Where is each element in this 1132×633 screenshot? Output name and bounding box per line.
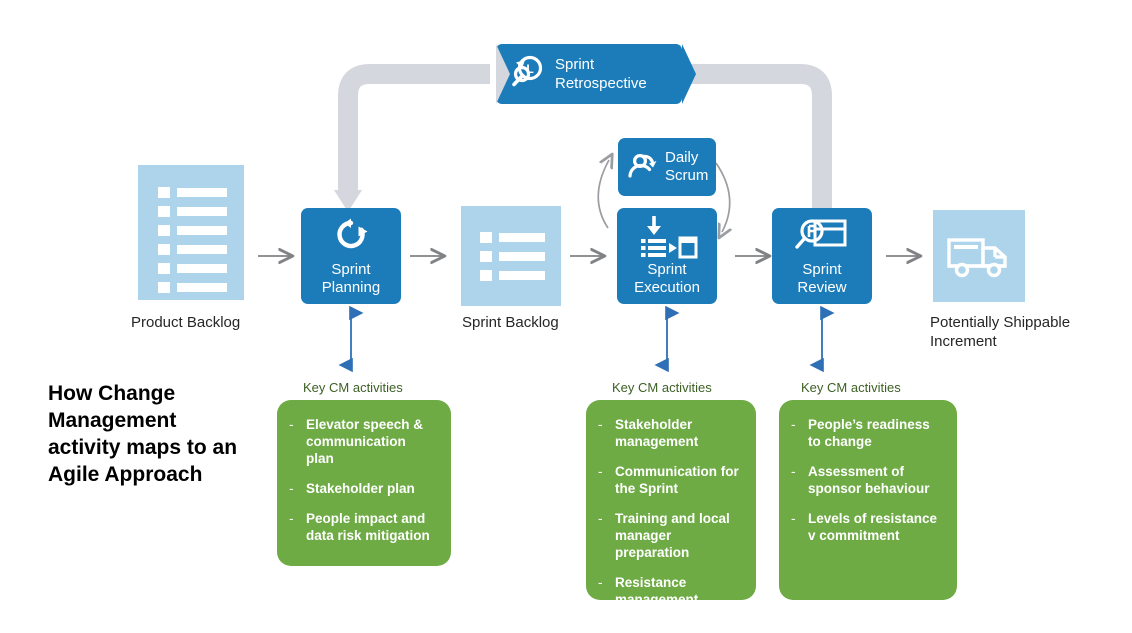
cm-list-review: - People’s readiness to change - Assessm… (791, 416, 943, 544)
cm-heading-planning: Key CM activities (303, 380, 403, 396)
list-item: - Elevator speech & communication plan (289, 416, 437, 467)
bullet-dash: - (791, 463, 799, 497)
bullet-dash: - (289, 510, 297, 544)
bullet-dash: - (598, 574, 606, 608)
bullet-dash: - (598, 463, 606, 497)
cm-heading-execution: Key CM activities (612, 380, 712, 396)
list-item: - Training and local manager preparation (598, 510, 742, 561)
bullet-dash: - (289, 416, 297, 467)
cm-box-execution[interactable]: - Stakeholder management - Communication… (586, 400, 756, 600)
cm-list-planning: - Elevator speech & communication plan -… (289, 416, 437, 544)
list-item: - People’s readiness to change (791, 416, 943, 450)
retrospective-banner-notches (0, 0, 1132, 633)
bullet-dash: - (791, 510, 799, 544)
cm-box-planning[interactable]: - Elevator speech & communication plan -… (277, 400, 451, 566)
list-item: - Assessment of sponsor behaviour (791, 463, 943, 497)
list-item: - People impact and data risk mitigation (289, 510, 437, 544)
list-item: - Stakeholder management (598, 416, 742, 450)
bullet-dash: - (289, 480, 297, 497)
cm-list-execution: - Stakeholder management - Communication… (598, 416, 742, 608)
list-item: - Stakeholder plan (289, 480, 437, 497)
bullet-dash: - (598, 510, 606, 561)
bullet-dash: - (598, 416, 606, 450)
diagram-canvas: Product Backlog SprintPlanning Sprint Ba… (0, 0, 1132, 633)
cm-box-review[interactable]: - People’s readiness to change - Assessm… (779, 400, 957, 600)
list-item: - Resistance management (598, 574, 742, 608)
bullet-dash: - (791, 416, 799, 450)
list-item: - Communication for the Sprint (598, 463, 742, 497)
page-title: How Change Management activity maps to a… (48, 380, 253, 488)
list-item: - Levels of resistance v commitment (791, 510, 943, 544)
cm-heading-review: Key CM activities (801, 380, 901, 396)
